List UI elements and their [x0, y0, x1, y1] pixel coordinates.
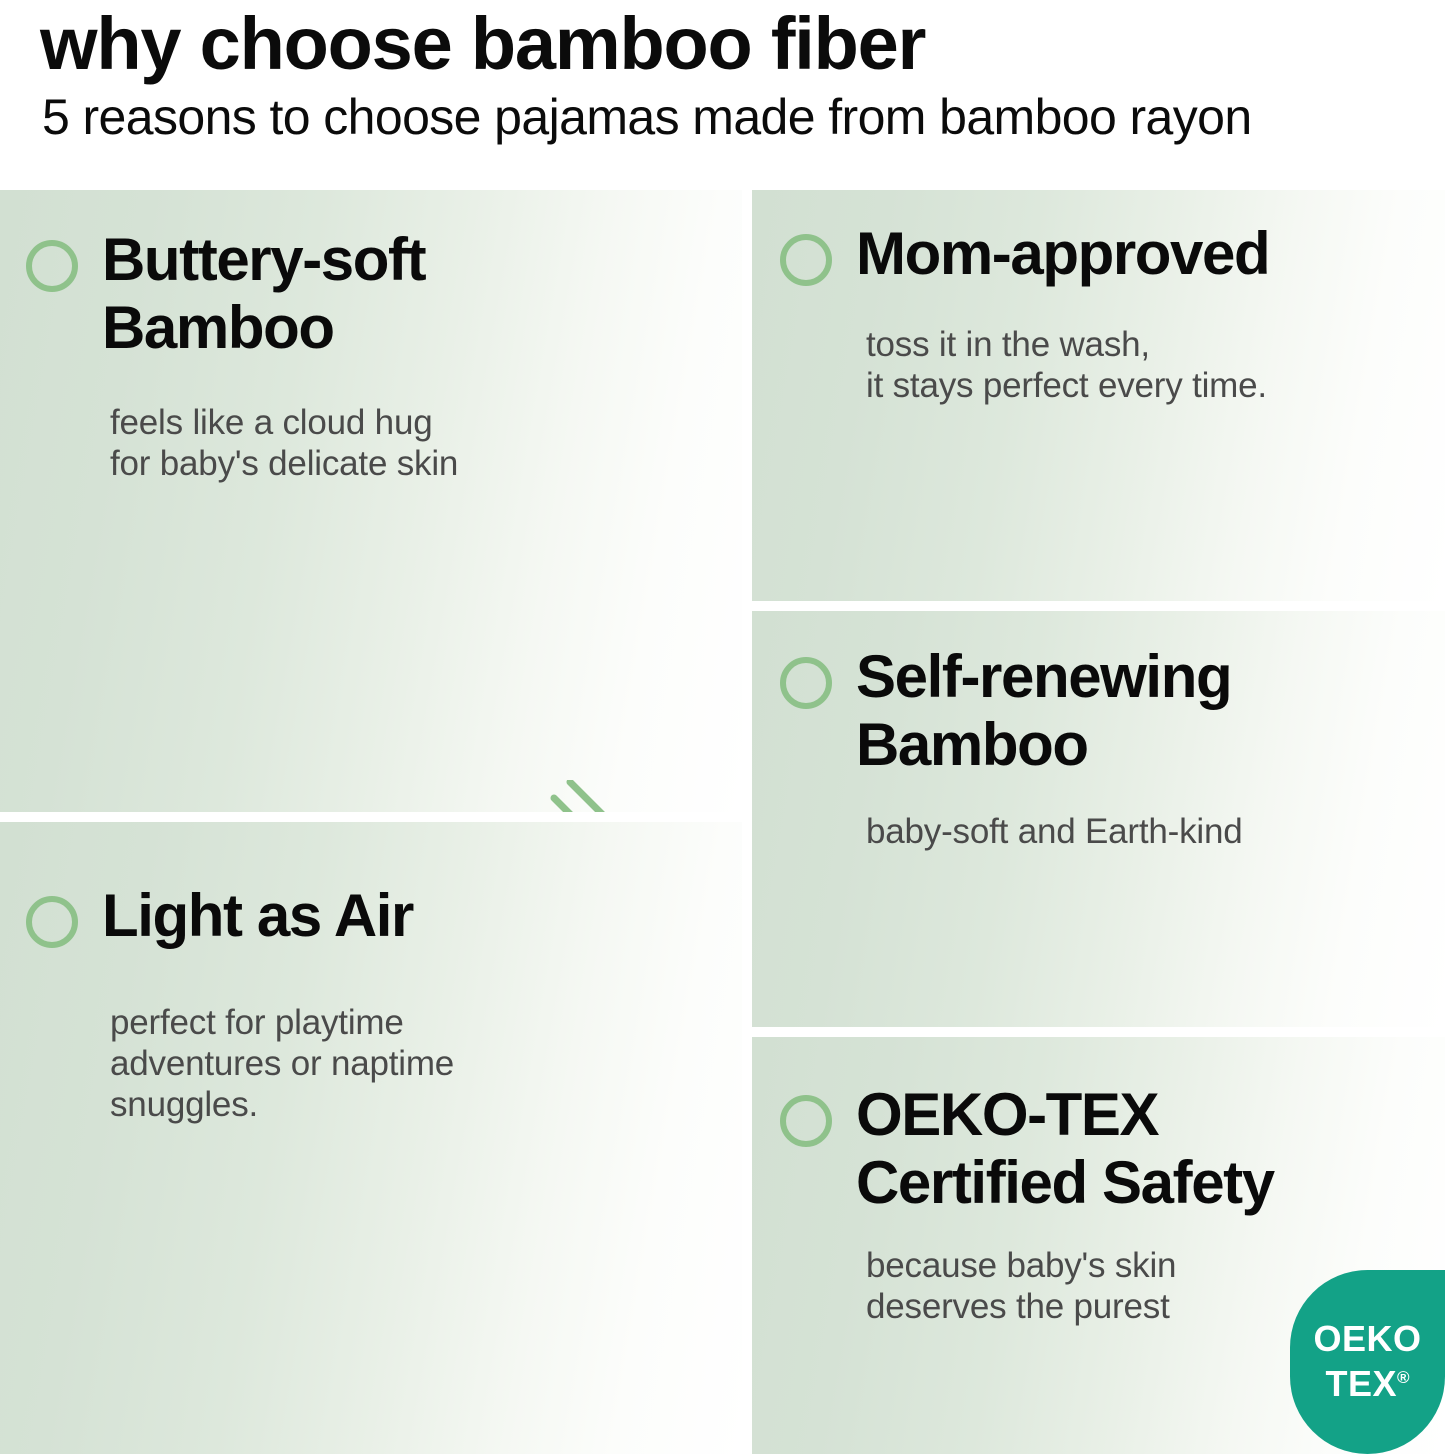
benefit-card-buttery-soft-bamboo[interactable]: Buttery-soft Bamboo feels like a cloud h… [0, 190, 742, 812]
ring-bullet-icon [780, 657, 832, 709]
oeko-tex-badge-icon: OEKO TEX® [1290, 1270, 1445, 1454]
header: why choose bamboo fiber 5 reasons to cho… [0, 0, 1445, 190]
oeko-badge-line1: OEKO [1313, 1320, 1421, 1358]
card-heading: Buttery-soft Bamboo [26, 226, 425, 362]
card-heading: Mom-approved [780, 220, 1269, 288]
card-heading: Self-renewing Bamboo [780, 643, 1231, 779]
card-heading: OEKO-TEX Certified Safety [780, 1081, 1274, 1217]
card-title: Mom-approved [856, 220, 1269, 288]
card-title: Light as Air [102, 882, 413, 950]
registered-trademark-icon: ® [1397, 1368, 1410, 1387]
card-body-text: baby-soft and Earth-kind [866, 811, 1243, 852]
card-body-text: because baby's skin deserves the purest [866, 1245, 1176, 1327]
benefit-card-self-renewing-bamboo[interactable]: Self-renewing Bamboo baby-soft and Earth… [752, 611, 1445, 1027]
ring-bullet-icon [26, 896, 78, 948]
card-title: Self-renewing Bamboo [856, 643, 1231, 779]
card-title: OEKO-TEX Certified Safety [856, 1081, 1274, 1217]
page-subtitle: 5 reasons to choose pajamas made from ba… [42, 86, 1252, 148]
oeko-badge-line2-text: TEX [1325, 1363, 1397, 1404]
benefit-card-mom-approved[interactable]: Mom-approved toss it in the wash, it sta… [752, 190, 1445, 601]
card-body-text: perfect for playtime adventures or napti… [110, 1002, 454, 1125]
benefit-card-oeko-tex-certified-safety[interactable]: OEKO-TEX Certified Safety because baby's… [752, 1037, 1445, 1454]
card-body-text: feels like a cloud hug for baby's delica… [110, 402, 458, 484]
ring-bullet-icon [780, 234, 832, 286]
card-heading: Light as Air [26, 882, 413, 950]
oeko-badge-line2: TEX® [1325, 1358, 1409, 1404]
card-body-text: toss it in the wash, it stays perfect ev… [866, 324, 1267, 406]
card-title: Buttery-soft Bamboo [102, 226, 425, 362]
hand-touch-icon [470, 780, 700, 812]
benefit-card-light-as-air[interactable]: Light as Air perfect for playtime advent… [0, 822, 742, 1454]
ring-bullet-icon [26, 240, 78, 292]
ring-bullet-icon [780, 1095, 832, 1147]
page-title: why choose bamboo fiber [40, 2, 925, 86]
benefits-grid: Buttery-soft Bamboo feels like a cloud h… [0, 190, 1445, 1454]
